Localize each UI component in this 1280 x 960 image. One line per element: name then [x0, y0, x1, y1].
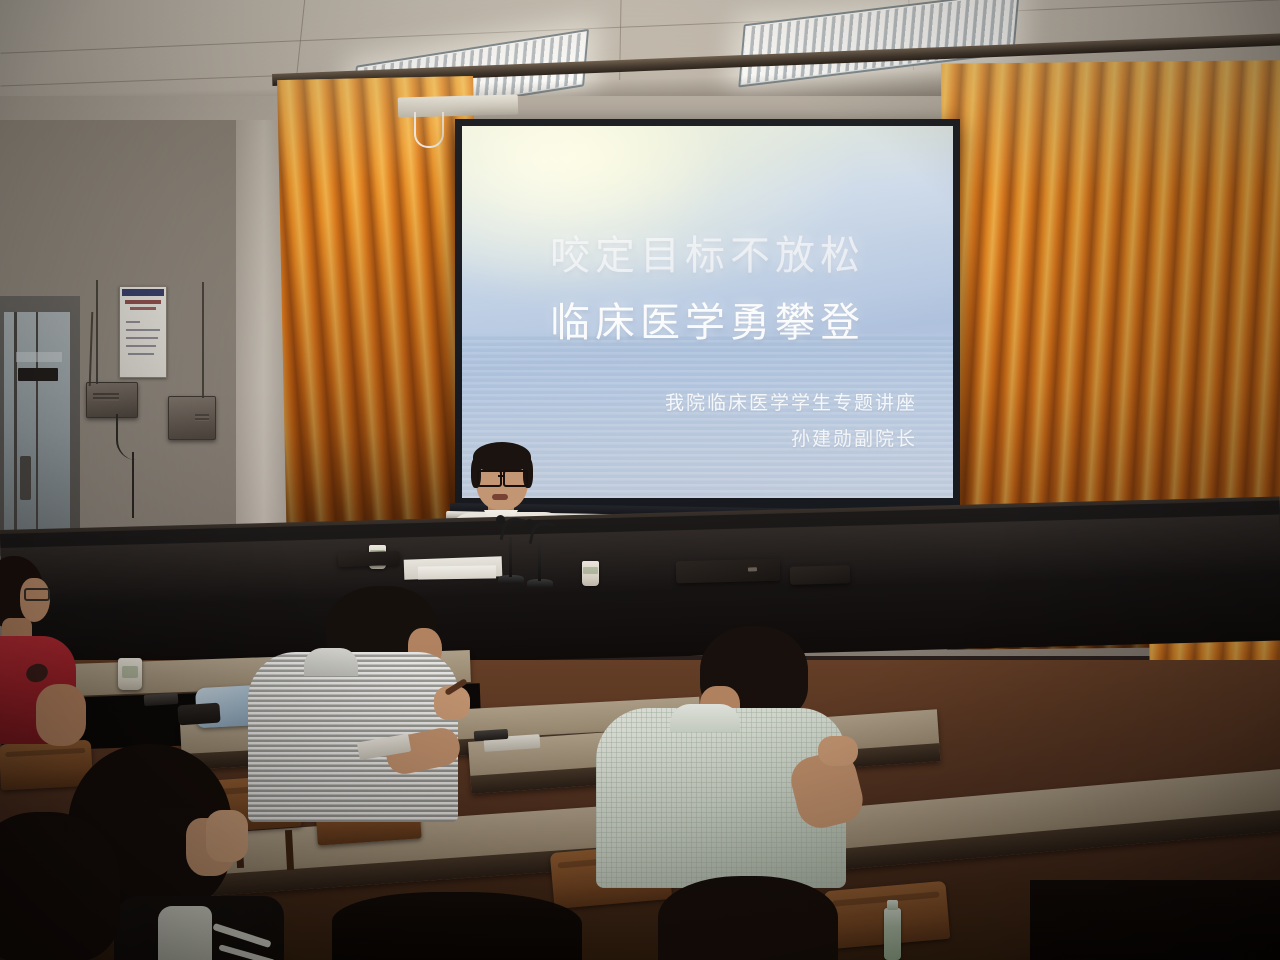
man-check-shirt: [596, 626, 886, 886]
person-lower-right: [658, 876, 838, 960]
water-bottle-cap: [887, 900, 898, 910]
electrical-box-vent: [195, 414, 209, 421]
door-sign-backing: [16, 352, 62, 362]
notice-title-text: [125, 300, 161, 304]
microphone-stem: [509, 537, 512, 577]
glasses-bridge: [498, 475, 503, 477]
glasses-left-lens: [477, 470, 502, 487]
polo-collar: [304, 648, 358, 676]
electrical-box-right: [168, 396, 216, 440]
lecture-hall-photo: 咬定目标不放松 临床医学勇攀登 我院临床医学学生专题讲座 孙建勋副院长: [0, 0, 1280, 960]
wall-notice-board: [119, 286, 167, 378]
microphone-head: [525, 519, 534, 528]
notice-header-bar: [122, 289, 164, 296]
phone-on-desk: [144, 693, 179, 706]
documents-on-table: [418, 565, 496, 579]
electrical-box-vent: [93, 393, 119, 402]
paper-cup-right: [582, 561, 599, 586]
microphone-right[interactable]: [527, 516, 553, 588]
notice-text-line: [126, 345, 156, 347]
table-equipment-right: [790, 565, 850, 585]
screen-cable-loop: [414, 112, 444, 148]
paper-cup-on-desk: [118, 658, 142, 690]
table-equipment-far-left: [338, 551, 400, 567]
bag-on-desk: [177, 703, 220, 726]
notice-text-line: [126, 321, 140, 323]
hair: [0, 812, 120, 960]
door-sign: [18, 368, 58, 381]
white-collar: [158, 906, 212, 960]
glasses: [24, 588, 50, 601]
microphone-left[interactable]: [498, 512, 524, 584]
electrical-cable: [132, 452, 134, 518]
equipment-indicator: [748, 567, 757, 571]
man-striped-polo: [248, 586, 498, 816]
slide-subtitle-line2: 孙建勋副院长: [791, 424, 917, 451]
notice-text-line: [126, 329, 160, 331]
hand: [818, 736, 858, 766]
speaker-mouth: [492, 494, 508, 500]
water-bottle: [884, 908, 901, 960]
glasses-right-lens: [503, 470, 528, 487]
microphone-head: [496, 515, 505, 524]
microphone-stem: [538, 541, 541, 581]
shoulder-arm: [36, 684, 86, 746]
door-handle[interactable]: [20, 456, 31, 500]
wall-cable: [96, 280, 98, 384]
woman-red-blouse: [0, 556, 100, 766]
notice-subtitle-text: [130, 307, 156, 310]
table-equipment-left: [676, 559, 781, 584]
shirt-collar: [670, 704, 740, 732]
woman-far-left-front: [0, 812, 130, 960]
foreground-shadow-right: [1030, 880, 1280, 960]
cup-band: [583, 567, 597, 575]
hair: [658, 876, 838, 960]
slide-title-line2: 临床医学勇攀登: [462, 290, 953, 348]
wall-cable: [202, 282, 204, 398]
slide-subtitle-line1: 我院临床医学学生专题讲座: [665, 388, 917, 415]
raised-hand: [206, 810, 248, 862]
person-lower-center: [332, 892, 582, 960]
notice-text-line: [128, 353, 154, 355]
electrical-box-left: [86, 382, 138, 418]
slide-title-line1: 咬定目标不放松: [462, 223, 953, 281]
cup-print: [122, 666, 138, 678]
door-mullion: [36, 312, 38, 548]
chair-slat: [832, 892, 939, 907]
notice-text-line: [126, 337, 158, 339]
door-mullion: [14, 312, 17, 548]
